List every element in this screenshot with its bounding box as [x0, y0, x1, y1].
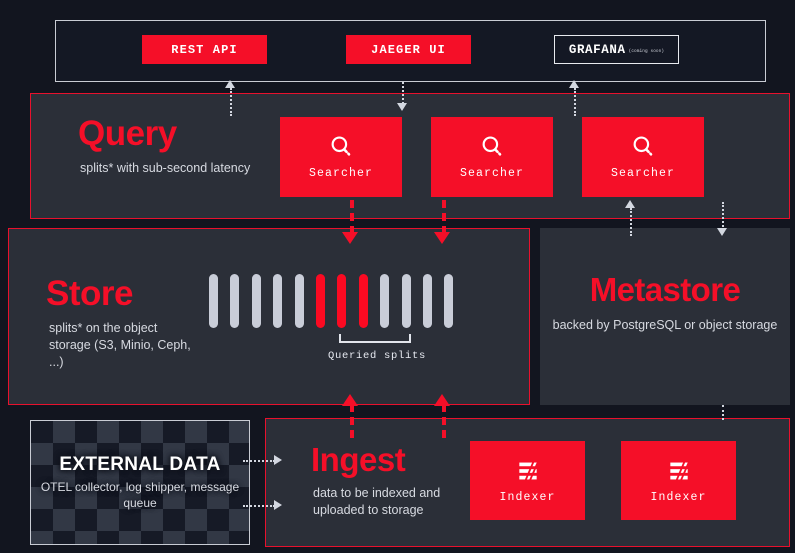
connector-rest-api [230, 88, 232, 116]
connector-metastore-searcher3 [630, 208, 632, 236]
ingest-panel: Ingest data to be indexed and uploaded t… [265, 418, 790, 547]
search-icon [630, 134, 656, 160]
split-bar-idle [423, 274, 432, 328]
arrow-up-ingest-store-2 [434, 394, 450, 406]
ingest-title: Ingest [311, 443, 405, 476]
split-bar-idle [402, 274, 411, 328]
queried-splits-label: Queried splits [257, 350, 497, 362]
split-bar-idle [252, 274, 261, 328]
clients-panel: REST API JAEGER UI GRAFANA (coming soon) [55, 20, 766, 82]
connector-searcher1-store [350, 200, 354, 234]
layers-icon [666, 458, 692, 484]
connector-jaeger-ui [402, 82, 404, 104]
searcher-label: Searcher [460, 167, 524, 180]
indexer-node-1[interactable]: Indexer [470, 441, 585, 520]
searcher-label: Searcher [611, 167, 675, 180]
ingest-description: data to be indexed and uploaded to stora… [313, 485, 493, 519]
query-panel: Query splits* with sub-second latency Se… [30, 93, 790, 219]
split-bar-idle [209, 274, 218, 328]
split-bar-queried [359, 274, 368, 328]
connector-grafana [574, 88, 576, 116]
query-description: splits* with sub-second latency [80, 160, 270, 177]
splits-visualization: Queried splits [209, 274, 499, 328]
search-icon [479, 134, 505, 160]
connector-query-metastore [722, 202, 724, 230]
client-button-rest-api[interactable]: REST API [142, 35, 267, 64]
metastore-title: Metastore [540, 273, 790, 306]
connector-external-ingest-top [243, 460, 275, 462]
searcher-node-1[interactable]: Searcher [280, 117, 402, 197]
client-label: REST API [171, 43, 237, 57]
arrow-up-rest-api [225, 80, 235, 88]
indexer-node-2[interactable]: Indexer [621, 441, 736, 520]
arrow-down-query-metastore [717, 228, 727, 236]
client-button-jaeger-ui[interactable]: JAEGER UI [346, 35, 471, 64]
arrow-up-metastore-searcher3 [625, 200, 635, 208]
split-bar-idle [273, 274, 282, 328]
layers-icon [515, 458, 541, 484]
split-bar-idle [230, 274, 239, 328]
client-button-grafana[interactable]: GRAFANA (coming soon) [554, 35, 679, 64]
arrow-right-external-ingest-top [274, 455, 282, 465]
store-panel: Store splits* on the object storage (S3,… [8, 228, 530, 405]
queried-splits-bracket [339, 334, 411, 343]
connector-ingest-store-2 [442, 404, 446, 438]
indexer-label: Indexer [499, 491, 555, 504]
arrow-up-ingest-store [342, 394, 358, 406]
architecture-diagram: REST API JAEGER UI GRAFANA (coming soon)… [0, 0, 795, 553]
arrow-down-searcher1-store [342, 232, 358, 244]
connector-ingest-store [350, 404, 354, 438]
connector-searcher2-store [442, 200, 446, 234]
searcher-node-2[interactable]: Searcher [431, 117, 553, 197]
split-bar-queried [337, 274, 346, 328]
arrow-down-searcher2-store [434, 232, 450, 244]
split-bar-queried [316, 274, 325, 328]
splits-row [209, 274, 499, 328]
arrow-down-jaeger-ui [397, 103, 407, 111]
connector-metastore-ingest [722, 405, 724, 420]
client-label: GRAFANA [569, 43, 626, 57]
client-label: JAEGER UI [371, 43, 446, 57]
external-data-title: EXTERNAL DATA [59, 454, 220, 476]
external-data-panel: EXTERNAL DATA OTEL collector, log shippe… [30, 420, 250, 545]
split-bar-idle [295, 274, 304, 328]
arrow-up-grafana [569, 80, 579, 88]
client-note-coming-soon: (coming soon) [629, 49, 665, 54]
search-icon [328, 134, 354, 160]
searcher-node-3[interactable]: Searcher [582, 117, 704, 197]
metastore-panel: Metastore backed by PostgreSQL or object… [540, 228, 790, 405]
connector-external-ingest-bottom [243, 505, 275, 507]
arrow-right-external-ingest-bottom [274, 500, 282, 510]
split-bar-idle [444, 274, 453, 328]
searcher-label: Searcher [309, 167, 373, 180]
indexer-label: Indexer [650, 491, 706, 504]
store-title: Store [46, 276, 133, 311]
metastore-description: backed by PostgreSQL or object storage [540, 317, 790, 334]
split-bar-idle [380, 274, 389, 328]
store-description: splits* on the object storage (S3, Minio… [49, 320, 199, 371]
query-title: Query [78, 116, 177, 151]
external-data-description: OTEL collector, log shipper, message que… [31, 479, 249, 511]
